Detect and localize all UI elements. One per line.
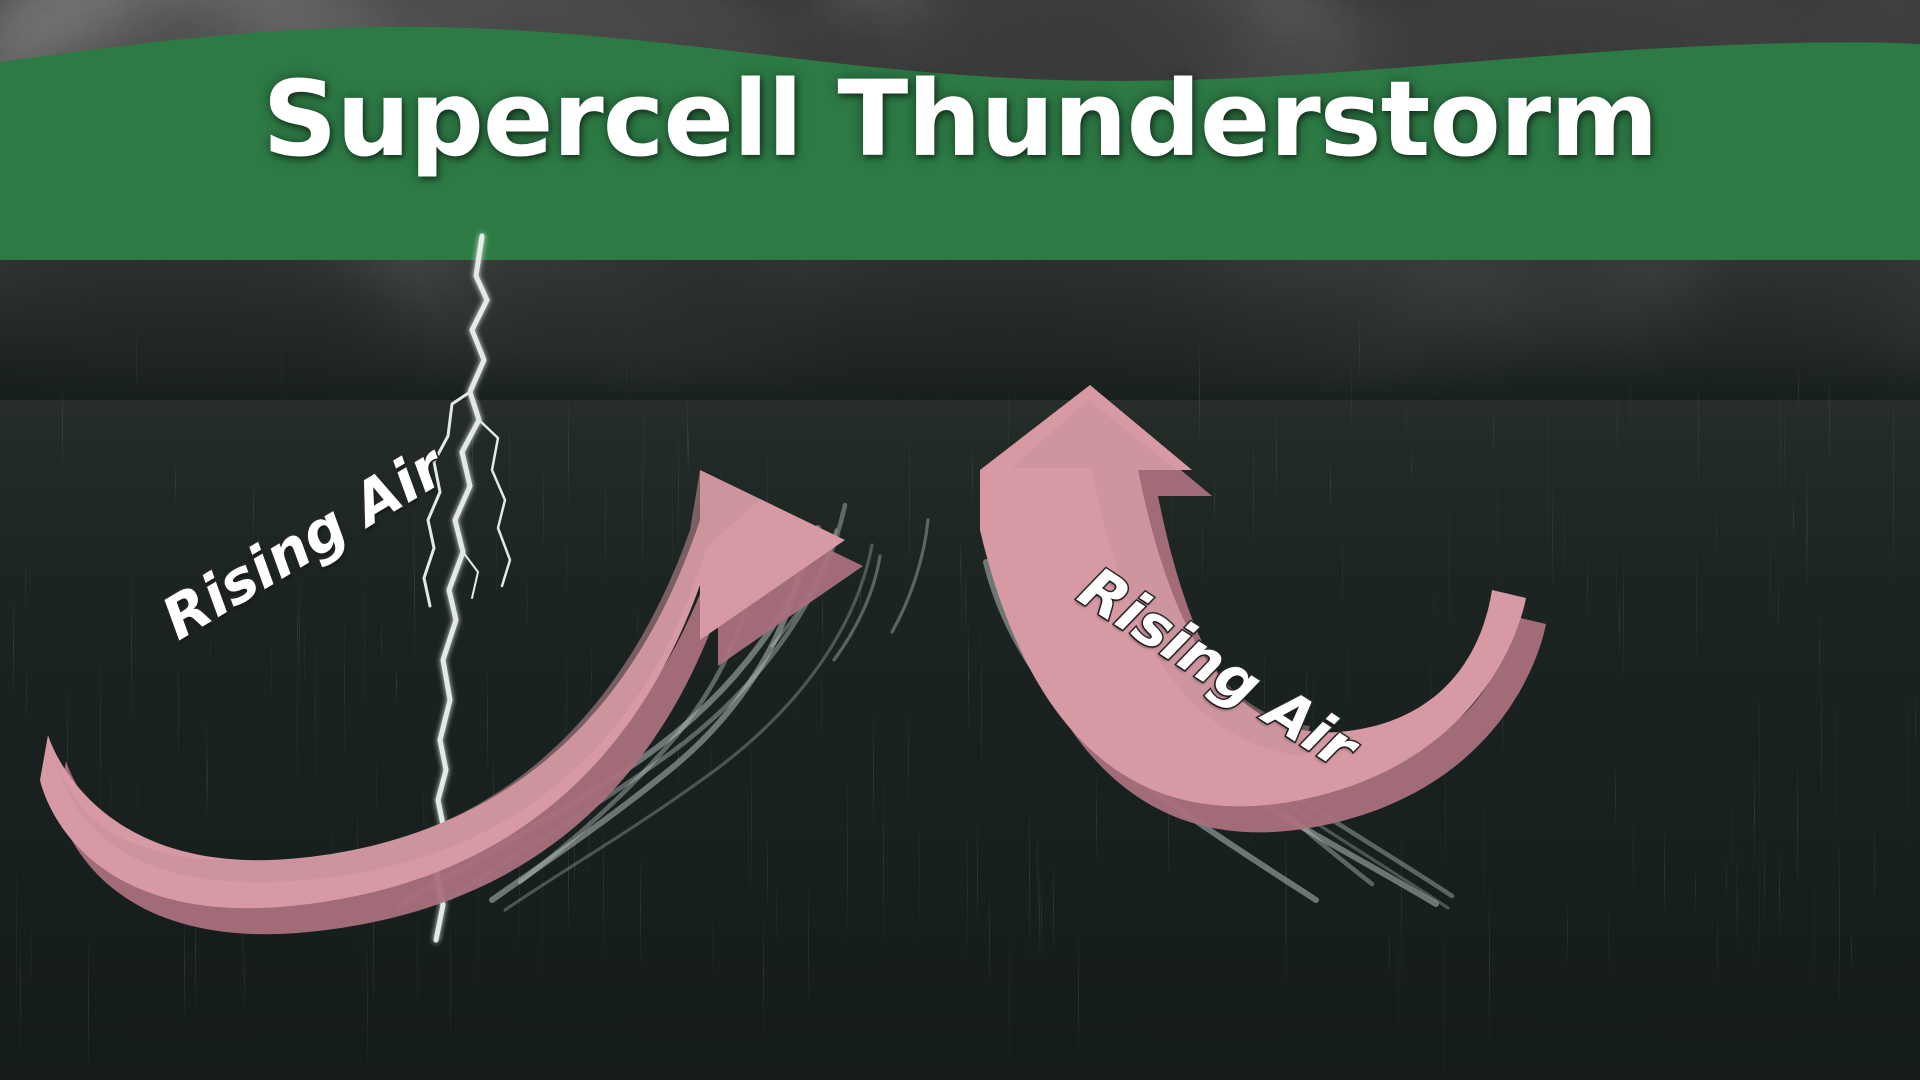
left-rising-air-arrow [40, 470, 863, 934]
right-rising-air-arrow [980, 385, 1546, 832]
page-title: Supercell Thunderstorm [0, 58, 1920, 180]
illustration-canvas: Supercell Thunderstorm Rising Air Rising… [0, 0, 1920, 1080]
